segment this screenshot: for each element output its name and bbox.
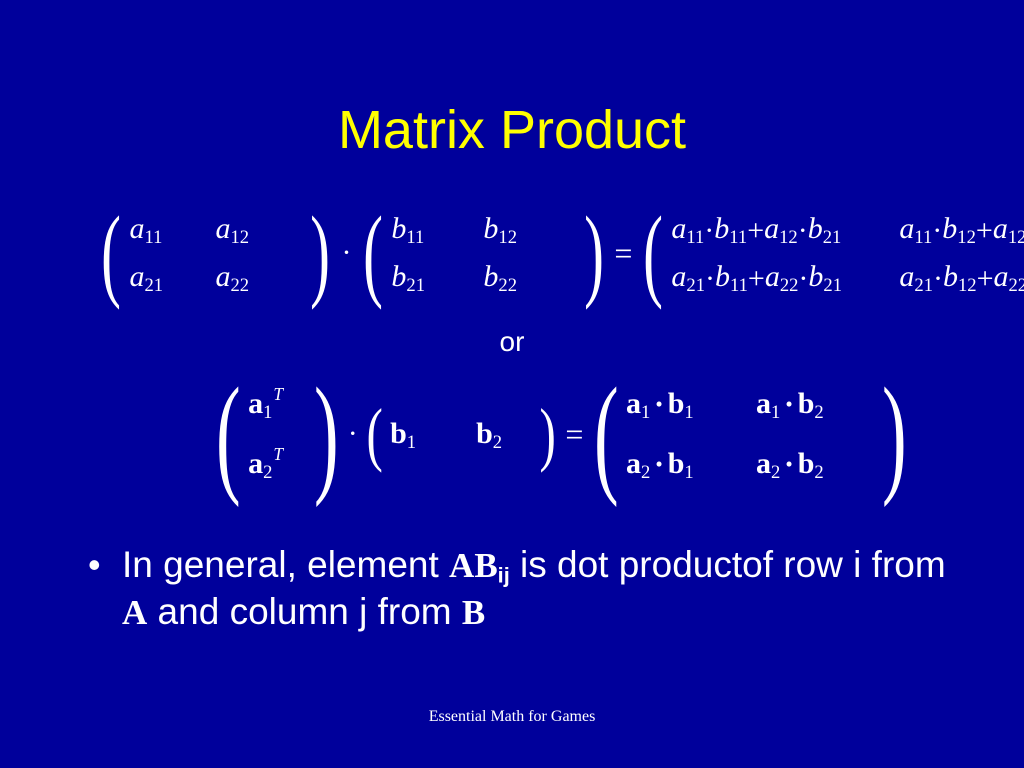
equation-matrix-product-components: ( a11a12 a21a22 ) · ( b11b12 b21b22 ) = …	[100, 205, 1024, 301]
column-vector-cell-2: a2T	[248, 434, 306, 494]
column-vector-right-paren: )	[314, 390, 339, 478]
slide-footer: Essential Math for Games	[0, 707, 1024, 727]
matrix-a-cell-11: a11	[129, 205, 215, 253]
dot-op: ·	[933, 255, 943, 303]
matrix-ab-symbol: ABij	[449, 546, 510, 585]
column-vector-row-2: a2T	[248, 434, 306, 494]
row-vector-left-paren: (	[367, 409, 383, 459]
result-matrix-1-left-paren: (	[643, 216, 663, 291]
multiply-operator-2: ·	[346, 417, 360, 451]
row-vector-cell-2: b2	[476, 404, 532, 464]
matrix-b-cell-22: b22	[483, 253, 575, 301]
matrix-a-row-2: a21a22	[129, 253, 301, 301]
matrix-a-right-paren: )	[310, 216, 330, 291]
equation-matrix-product-vectors: ( a1T a2T ) · ( b1b2 ) = ( a1•b1a1•b2 a2…	[216, 374, 906, 494]
bullet-text-part-1: In general, element	[122, 544, 449, 585]
result-matrix-2-left-paren: (	[594, 390, 619, 478]
page-title: Matrix Product	[0, 101, 1024, 159]
matrix-b-cell-11: b11	[391, 205, 483, 253]
connector-or: or	[0, 326, 1024, 358]
matrix-b: b11b12 b21b22	[391, 205, 575, 301]
column-vector-left-paren: (	[216, 390, 241, 478]
result-matrix-2: a1•b1a1•b2 a2•b1a2•b2	[626, 374, 874, 494]
matrix-a-cell-22: a22	[215, 253, 301, 301]
slide: Matrix Product ( a11a12 a21a22 ) · ( b11…	[0, 0, 1024, 768]
dot-op: ·	[704, 207, 714, 255]
bullet-text-part-2: is dot product	[510, 544, 742, 585]
plus-op: +	[747, 207, 764, 255]
row-vector-b: b1b2	[390, 404, 532, 464]
equals-operator-2: =	[562, 416, 586, 453]
plus-op: +	[976, 207, 993, 255]
result-cell-11: a11·b11+a12·b21	[671, 205, 899, 255]
dot-result-cell-21: a2•b1	[626, 434, 756, 494]
equals-operator-1: =	[612, 235, 634, 272]
row-vector-cell-1: b1	[390, 404, 476, 464]
transpose-superscript: T	[273, 444, 283, 464]
result-matrix-2-row-1: a1•b1a1•b2	[626, 374, 874, 434]
matrix-a-left-paren: (	[101, 216, 121, 291]
bullet-marker-icon: •	[88, 542, 122, 588]
result-matrix-1-row-2: a21·b11+a22·b21a21·b12+a22·b22	[671, 253, 1024, 301]
plus-op: +	[748, 255, 765, 303]
result-matrix-2-row-2: a2•b1a2•b2	[626, 434, 874, 494]
row-vector-right-paren: )	[539, 409, 555, 459]
matrix-a-row-1: a11a12	[129, 205, 301, 253]
dot-product-icon: •	[650, 374, 667, 434]
list-item: • In general, element ABij is dot produc…	[88, 542, 948, 636]
dot-product-icon: •	[650, 434, 667, 494]
result-matrix-1: a11·b11+a12·b21a11·b12+a12·b22 a21·b11+a…	[671, 205, 1024, 301]
matrix-b-cell-21: b21	[391, 253, 483, 301]
dot-result-cell-22: a2•b2	[756, 434, 874, 494]
matrix-ab-letters: AB	[449, 546, 498, 585]
result-matrix-1-row-1: a11·b11+a12·b21a11·b12+a12·b22	[671, 205, 1024, 253]
matrix-b-row-2: b21b22	[391, 253, 575, 301]
result-cell-22: a21·b12+a22·b22	[899, 253, 1024, 303]
matrix-b-row-1: b11b12	[391, 205, 575, 253]
matrix-ab-subscript: ij	[498, 562, 510, 587]
matrix-b-cell-12: b12	[483, 205, 575, 253]
dot-product-icon: •	[780, 434, 797, 494]
multiply-operator-1: ·	[338, 236, 354, 270]
body-bullet-list: • In general, element ABij is dot produc…	[88, 542, 948, 636]
dot-op: ·	[705, 255, 715, 303]
dot-result-cell-12: a1•b2	[756, 374, 874, 434]
matrix-a: a11a12 a21a22	[129, 205, 301, 301]
bullet-text: In general, element ABij is dot producto…	[122, 542, 948, 636]
result-cell-21: a21·b11+a22·b21	[671, 253, 899, 303]
transpose-superscript: T	[273, 384, 283, 404]
dot-result-cell-11: a1•b1	[626, 374, 756, 434]
result-matrix-2-right-paren: )	[881, 390, 906, 478]
plus-op: +	[977, 255, 994, 303]
dot-op: ·	[798, 207, 808, 255]
column-vector-cell-1: a1T	[248, 374, 306, 434]
matrix-b-right-paren: )	[584, 216, 604, 291]
matrix-a-symbol: A	[122, 593, 147, 632]
matrix-a-cell-21: a21	[129, 253, 215, 301]
column-vector-a: a1T a2T	[248, 374, 306, 494]
matrix-b-left-paren: (	[363, 216, 383, 291]
matrix-a-cell-12: a12	[215, 205, 301, 253]
dot-product-icon: •	[780, 374, 797, 434]
bullet-text-part-4: and column j from	[147, 591, 462, 632]
dot-op: ·	[798, 255, 808, 303]
bullet-text-part-3: of row i from	[742, 544, 946, 585]
matrix-b-symbol: B	[462, 593, 485, 632]
column-vector-row-1: a1T	[248, 374, 306, 434]
result-cell-12: a11·b12+a12·b22	[899, 205, 1024, 255]
dot-op: ·	[932, 207, 942, 255]
row-vector-row-1: b1b2	[390, 404, 532, 464]
